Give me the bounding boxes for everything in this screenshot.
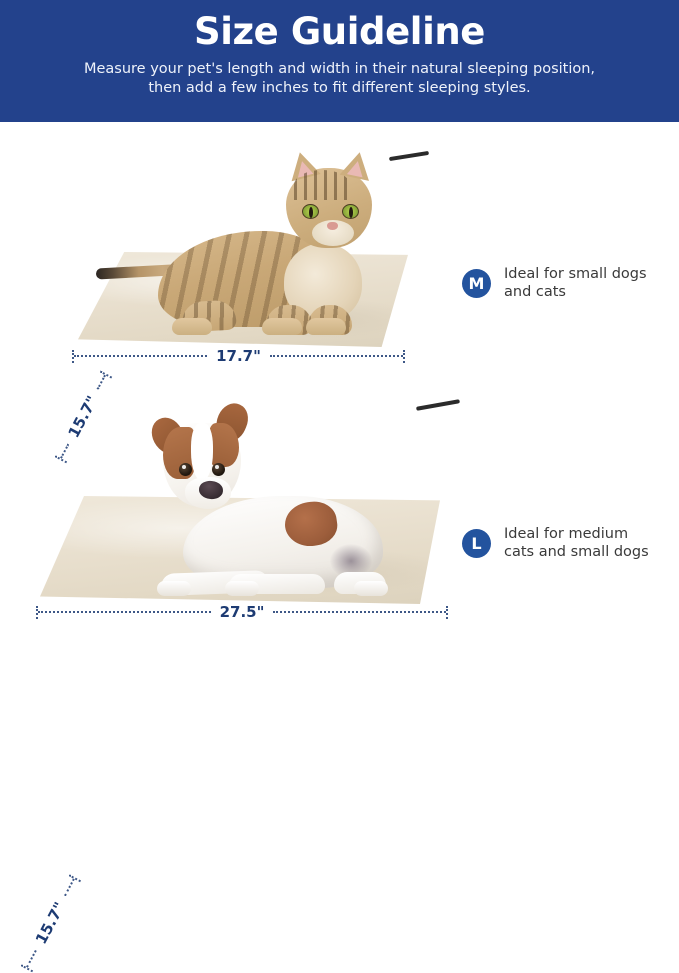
dog-eye: [179, 463, 192, 476]
dog-blaze: [191, 423, 213, 481]
power-cord-medium: [389, 151, 429, 161]
cat-paw: [306, 318, 346, 335]
page-subtitle: Measure your pet's length and width in t…: [84, 60, 595, 98]
cat-ear-inner: [294, 159, 313, 177]
dimension-depth-label-large: 15.7": [28, 891, 73, 955]
dimension-cap: [68, 874, 80, 882]
size-description-medium: Ideal for small dogs and cats: [504, 265, 647, 301]
dimension-line: [74, 355, 207, 357]
dog-illustration: [155, 417, 390, 592]
dog-head: [163, 423, 241, 507]
cat-ear-inner: [347, 159, 366, 177]
dimension-cap: [446, 606, 448, 619]
cat-paw: [262, 318, 302, 335]
power-cord-large: [416, 399, 460, 411]
dog-paw: [354, 581, 388, 596]
size-section-large: 15.7": [0, 375, 679, 628]
dimension-cap: [403, 350, 405, 363]
dimension-line: [38, 611, 211, 613]
page-header: Size Guideline Measure your pet's length…: [0, 0, 679, 122]
dog-coat-patch: [282, 499, 340, 550]
product-photo-medium: [66, 140, 421, 355]
size-callout-medium: M Ideal for small dogs and cats: [462, 265, 647, 301]
size-description-line-1: Ideal for medium: [504, 525, 649, 543]
subtitle-line-2: then add a few inches to fit different s…: [84, 79, 595, 98]
size-section-medium: 15.7": [0, 122, 679, 375]
cat-head: [286, 168, 372, 248]
size-description-line-2: and cats: [504, 283, 647, 301]
dimension-line: [273, 611, 446, 613]
product-photo-large: [30, 385, 450, 610]
subtitle-line-1: Measure your pet's length and width in t…: [84, 60, 595, 79]
dimension-width-large: 27.5": [36, 604, 448, 620]
dimension-width-label-large: 27.5": [211, 603, 274, 621]
cat-eye: [342, 204, 359, 219]
size-description-line-2: cats and small dogs: [504, 543, 649, 561]
dog-eye: [212, 463, 225, 476]
cat-ear: [285, 149, 320, 181]
size-badge-large: L: [462, 529, 491, 558]
dimension-line: [270, 355, 403, 357]
dimension-line: [64, 878, 74, 895]
size-description-large: Ideal for medium cats and small dogs: [504, 525, 649, 561]
cat-eye: [302, 204, 319, 219]
size-badge-medium: M: [462, 269, 491, 298]
dog-paw: [225, 581, 259, 596]
cat-paw: [172, 318, 212, 335]
cat-illustration: [158, 168, 368, 333]
size-callout-large: L Ideal for medium cats and small dogs: [462, 525, 649, 561]
dimension-width-label-medium: 17.7": [207, 347, 270, 365]
dimension-line: [26, 950, 36, 967]
dimension-width-medium: 17.7": [72, 348, 405, 364]
cat-ear: [340, 149, 375, 181]
size-description-line-1: Ideal for small dogs: [504, 265, 647, 283]
dog-paw: [157, 581, 191, 596]
dimension-depth-large: 15.7": [19, 873, 82, 972]
page-title: Size Guideline: [194, 9, 485, 55]
cat-nose: [327, 222, 338, 230]
